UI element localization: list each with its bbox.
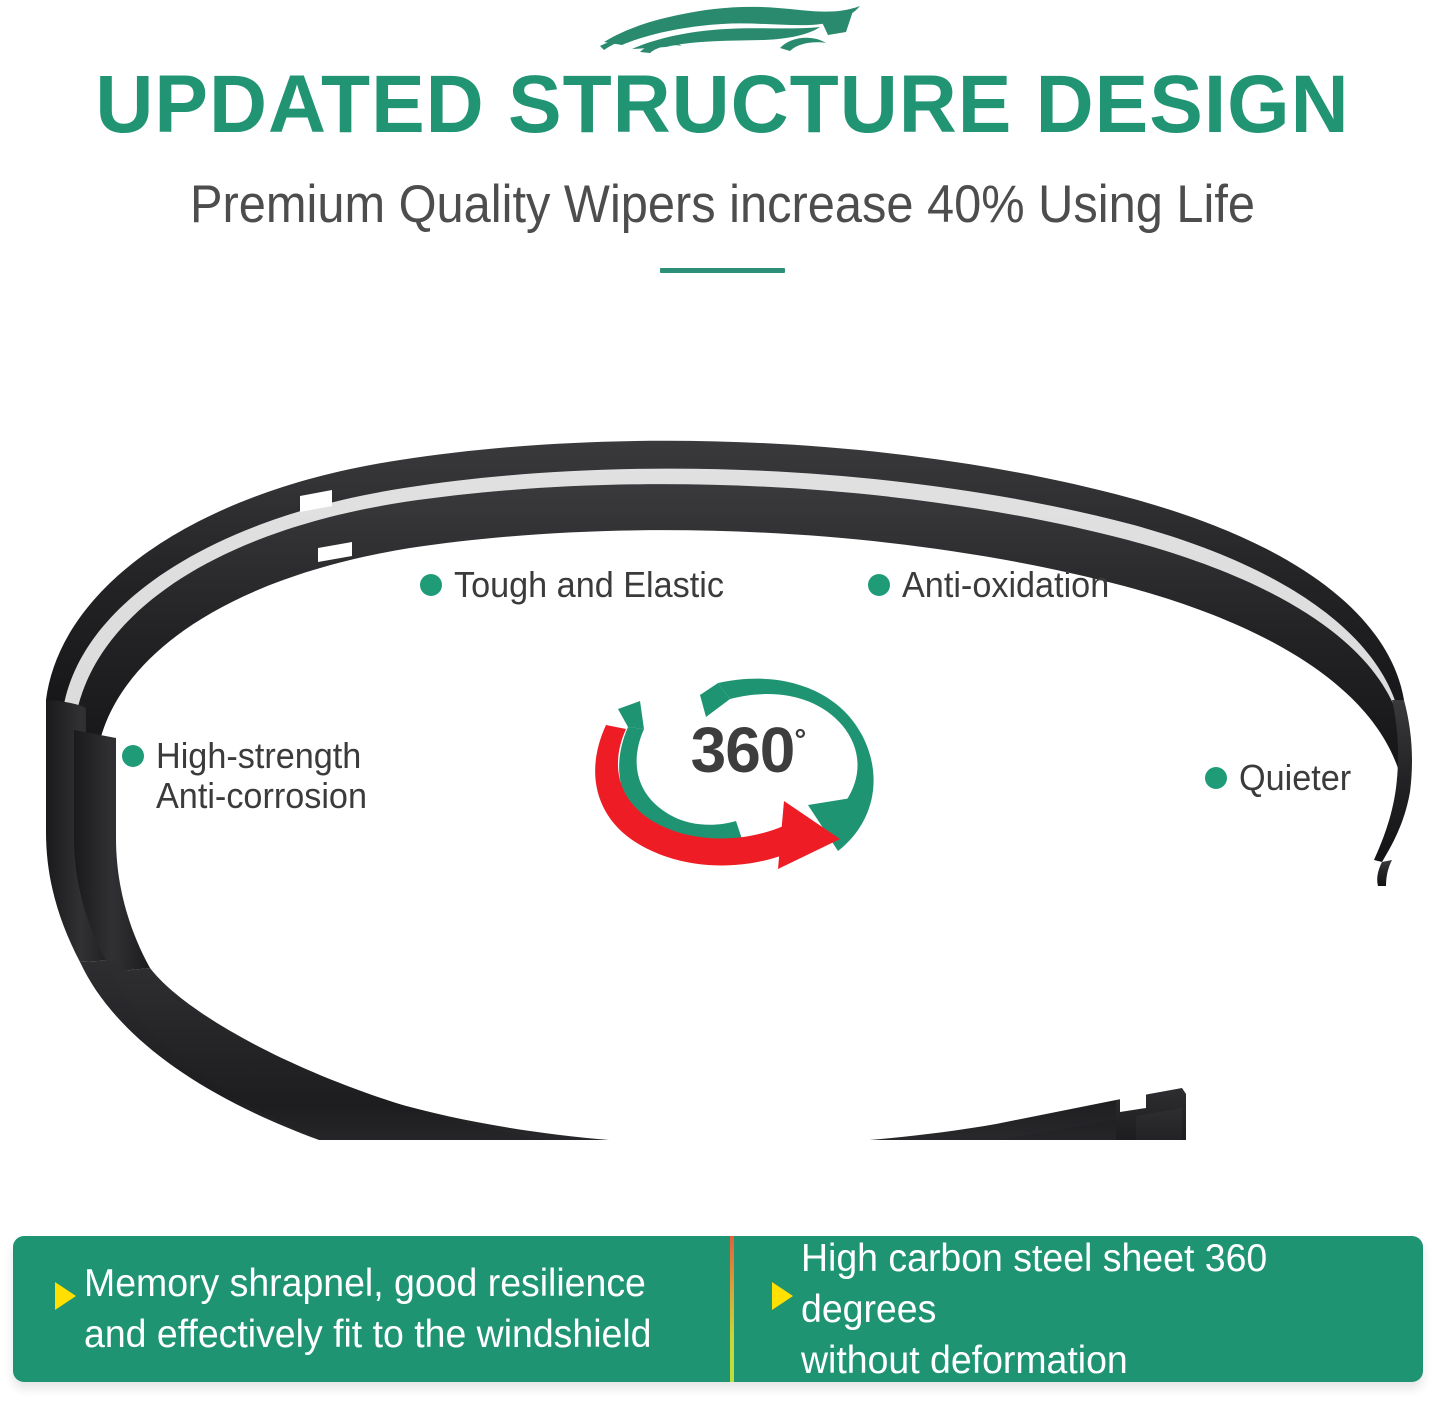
feature-label-text: High-strength Anti-corrosion <box>156 736 367 816</box>
badge-360-unit: ° <box>794 724 805 757</box>
banner-item-memory-shrapnel: Memory shrapnel, good resilience and eff… <box>13 1236 730 1382</box>
feature-label-high-strength-anti-corrosion: High-strength Anti-corrosion <box>122 736 378 816</box>
feature-label-anti-oxidation: Anti-oxidation <box>868 565 1120 605</box>
car-silhouette-icon <box>592 2 872 58</box>
bullet-dot-icon <box>122 745 144 767</box>
feature-label-quieter: Quieter <box>1205 758 1357 798</box>
page-title: UPDATED STRUCTURE DESIGN <box>14 62 1430 148</box>
banner-item-line1: High carbon steel sheet 360 degrees <box>801 1233 1398 1335</box>
triangle-right-icon <box>55 1282 76 1310</box>
bullet-dot-icon <box>868 574 890 596</box>
bottom-feature-banner: Memory shrapnel, good resilience and eff… <box>13 1236 1423 1382</box>
badge-360-text: 360° <box>658 717 838 783</box>
banner-item-text: High carbon steel sheet 360 degrees with… <box>801 1233 1398 1386</box>
feature-label-text: Quieter <box>1239 758 1351 798</box>
rotation-360-badge: 360° <box>570 655 920 870</box>
product-feature-infographic: UPDATED STRUCTURE DESIGN Premium Quality… <box>0 0 1445 1421</box>
banner-item-line1: Memory shrapnel, good resilience <box>84 1258 651 1309</box>
banner-item-line2: without deformation <box>801 1335 1398 1386</box>
banner-item-text: Memory shrapnel, good resilience and eff… <box>84 1258 651 1360</box>
banner-item-line2: and effectively fit to the windshield <box>84 1309 651 1360</box>
bullet-dot-icon <box>1205 767 1227 789</box>
feature-label-tough-and-elastic: Tough and Elastic <box>420 565 738 605</box>
bullet-dot-icon <box>420 574 442 596</box>
feature-label-text: Anti-oxidation <box>902 565 1109 605</box>
banner-item-high-carbon-steel: High carbon steel sheet 360 degrees with… <box>730 1236 1423 1382</box>
feature-label-text: Tough and Elastic <box>454 565 724 605</box>
triangle-right-icon <box>772 1282 793 1310</box>
title-underline-divider <box>660 268 785 273</box>
page-subtitle: Premium Quality Wipers increase 40% Usin… <box>58 175 1387 235</box>
badge-360-value: 360 <box>691 714 795 786</box>
